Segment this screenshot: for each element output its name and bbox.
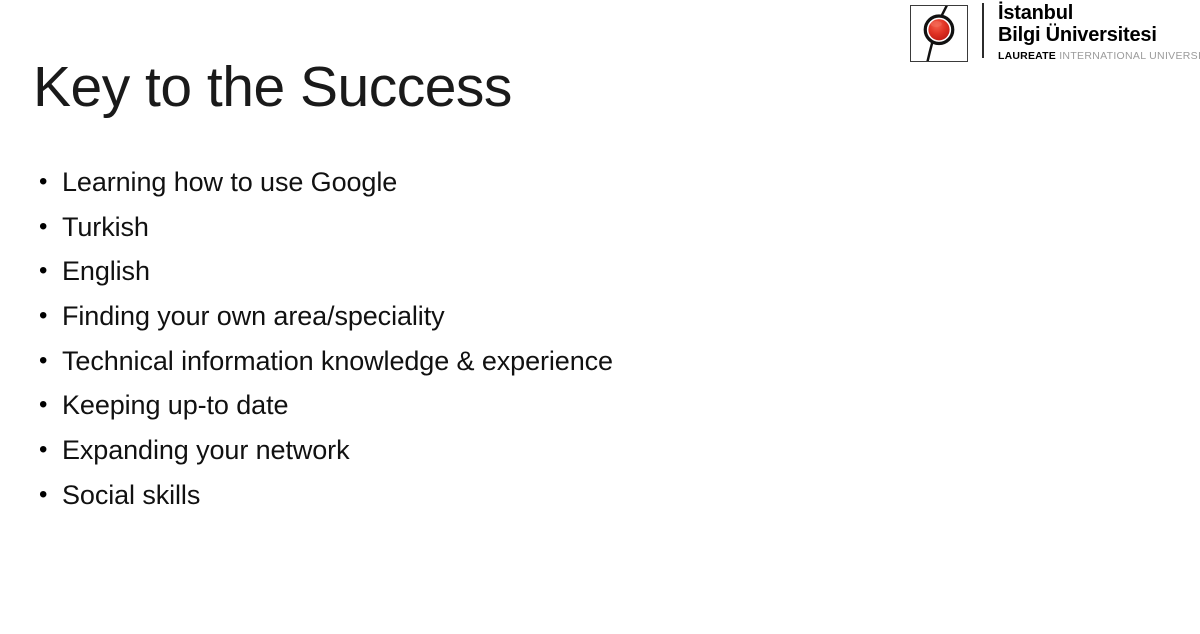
list-item: • Social skills: [33, 473, 853, 518]
page-title: Key to the Success: [33, 54, 512, 120]
bullet-dot-icon: •: [33, 473, 62, 518]
list-item-label: Expanding your network: [62, 428, 349, 473]
list-item-label: Turkish: [62, 205, 149, 250]
list-item-label: English: [62, 249, 150, 294]
list-item-label: Keeping up-to date: [62, 383, 288, 428]
list-item-label: Learning how to use Google: [62, 160, 397, 205]
bilgi-logo-mark-icon: [910, 5, 968, 62]
logo-line-bilgi: Bilgi Üniversitesi: [998, 24, 1198, 46]
list-item-label: Finding your own area/speciality: [62, 294, 445, 339]
list-item-label: Social skills: [62, 473, 200, 518]
list-item-label: Technical information knowledge & experi…: [62, 339, 613, 384]
list-item: • English: [33, 249, 853, 294]
bullet-dot-icon: •: [33, 383, 62, 428]
list-item: • Turkish: [33, 205, 853, 250]
bullet-dot-icon: •: [33, 249, 62, 294]
bullet-list: • Learning how to use Google • Turkish •…: [33, 160, 853, 518]
bullet-dot-icon: •: [33, 428, 62, 473]
logo-wordmark: İstanbul Bilgi Üniversitesi LAUREATE INT…: [998, 0, 1198, 62]
university-logo: İstanbul Bilgi Üniversitesi LAUREATE INT…: [906, 0, 1200, 72]
slide-canvas: Key to the Success • Learning how to use…: [0, 0, 1200, 634]
list-item: • Learning how to use Google: [33, 160, 853, 205]
list-item: • Finding your own area/speciality: [33, 294, 853, 339]
list-item: • Technical information knowledge & expe…: [33, 339, 853, 384]
logo-tagline-rest: INTERNATIONAL UNIVERSITIES: [1056, 50, 1200, 62]
bullet-dot-icon: •: [33, 294, 62, 339]
logo-tagline: LAUREATE INTERNATIONAL UNIVERSITIES: [998, 50, 1198, 62]
bullet-dot-icon: •: [33, 339, 62, 384]
bullet-dot-icon: •: [33, 160, 62, 205]
logo-line-istanbul: İstanbul: [998, 0, 1198, 24]
logo-tagline-laureate: LAUREATE: [998, 50, 1056, 62]
list-item: • Keeping up-to date: [33, 383, 853, 428]
bullet-dot-icon: •: [33, 205, 62, 250]
logo-divider: [982, 3, 984, 58]
list-item: • Expanding your network: [33, 428, 853, 473]
